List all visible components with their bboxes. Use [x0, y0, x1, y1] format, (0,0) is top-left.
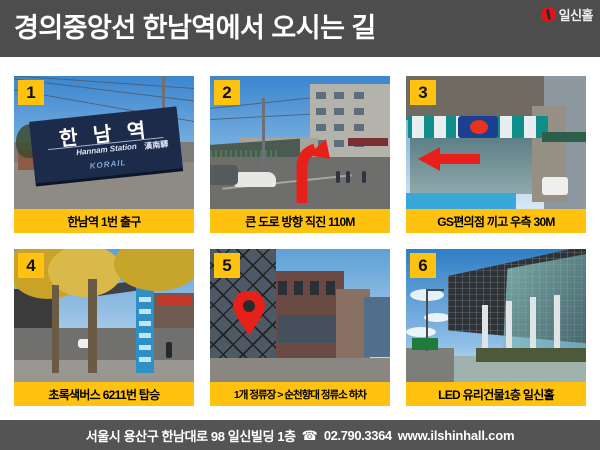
station-name-cn: 漢南驛	[144, 139, 169, 152]
circle-logo-icon	[541, 7, 556, 22]
step-number-badge: 4	[18, 253, 44, 278]
footer-address: 서울시 용산구 한남대로 98 일신빌딩 1층	[86, 426, 296, 445]
step-caption-5: 1개 정류장 > 순천향대 정류소 하차	[210, 382, 390, 406]
step-caption-6: LED 유리건물1층 일신홀	[406, 382, 586, 406]
step-number-badge: 1	[18, 80, 44, 105]
page-title: 경의중앙선 한남역에서 오시는 길	[14, 9, 376, 47]
step-number-badge: 6	[410, 253, 436, 278]
step-card-2[interactable]: 2 큰 도로 방향 직진 110M	[210, 76, 390, 233]
step-card-1[interactable]: 한 남 역 Hannam Station 漢南驛 KORAIL 1 한남역 1번…	[14, 76, 194, 233]
bus-stop-sign	[136, 287, 154, 373]
brand-name: 일신홀	[559, 5, 593, 24]
step-caption-4: 초록색버스 6211번 탑승	[14, 382, 194, 406]
step-caption-2: 큰 도로 방향 직진 110M	[210, 209, 390, 233]
step-card-6[interactable]: 6 LED 유리건물1층 일신홀	[406, 249, 586, 406]
step-number-badge: 3	[410, 80, 436, 105]
footer-bar: 서울시 용산구 한남대로 98 일신빌딩 1층 ☎ 02.790.3364 ww…	[0, 420, 600, 450]
brand-logo: 일신홀	[541, 4, 593, 24]
red-left-arrow-icon	[418, 146, 480, 172]
red-curved-arrow-icon	[288, 133, 332, 203]
steps-grid: 한 남 역 Hannam Station 漢南驛 KORAIL 1 한남역 1번…	[14, 76, 586, 406]
step-caption-1: 한남역 1번 출구	[14, 209, 194, 233]
road-sign	[412, 338, 438, 350]
step-card-4[interactable]: 4 초록색버스 6211번 탑승	[14, 249, 194, 406]
red-map-pin-icon	[232, 291, 266, 335]
directions-poster: 경의중앙선 한남역에서 오시는 길 일신홀 한 남 역	[0, 0, 600, 450]
header-bar: 경의중앙선 한남역에서 오시는 길 일신홀	[0, 0, 600, 57]
footer-phone: 02.790.3364	[324, 428, 392, 443]
footer-website[interactable]: www.ilshinhall.com	[398, 428, 515, 443]
step-number-badge: 2	[214, 80, 240, 105]
gs25-logo-icon	[458, 116, 498, 138]
step-card-5[interactable]: 5 1개 정류장 > 순천향대 정류소 하차	[210, 249, 390, 406]
phone-icon: ☎	[302, 429, 318, 442]
step-caption-3: GS편의점 끼고 우측 30M	[406, 209, 586, 233]
step-card-3[interactable]: 3 GS편의점 끼고 우측 30M	[406, 76, 586, 233]
step-number-badge: 5	[214, 253, 240, 278]
